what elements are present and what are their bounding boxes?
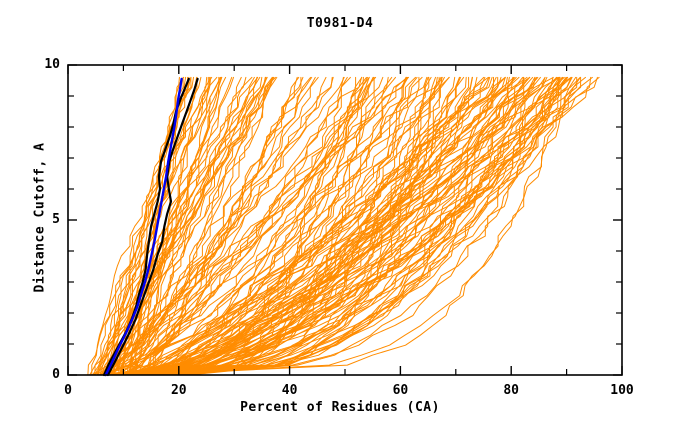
y-tick-label: 5: [34, 212, 60, 227]
x-tick-label: 0: [48, 383, 88, 398]
plot-canvas: [0, 0, 680, 440]
y-tick-label: 10: [34, 57, 60, 72]
x-tick-label: 20: [159, 383, 199, 398]
x-tick-label: 100: [602, 383, 642, 398]
x-tick-label: 40: [270, 383, 310, 398]
x-tick-label: 80: [491, 383, 531, 398]
x-tick-label: 60: [380, 383, 420, 398]
page-title: T0981-D4: [0, 16, 680, 31]
chart-figure: T0981-D4 Percent of Residues (CA) Distan…: [0, 0, 680, 440]
x-axis-label: Percent of Residues (CA): [0, 400, 680, 415]
y-tick-label: 0: [34, 367, 60, 382]
